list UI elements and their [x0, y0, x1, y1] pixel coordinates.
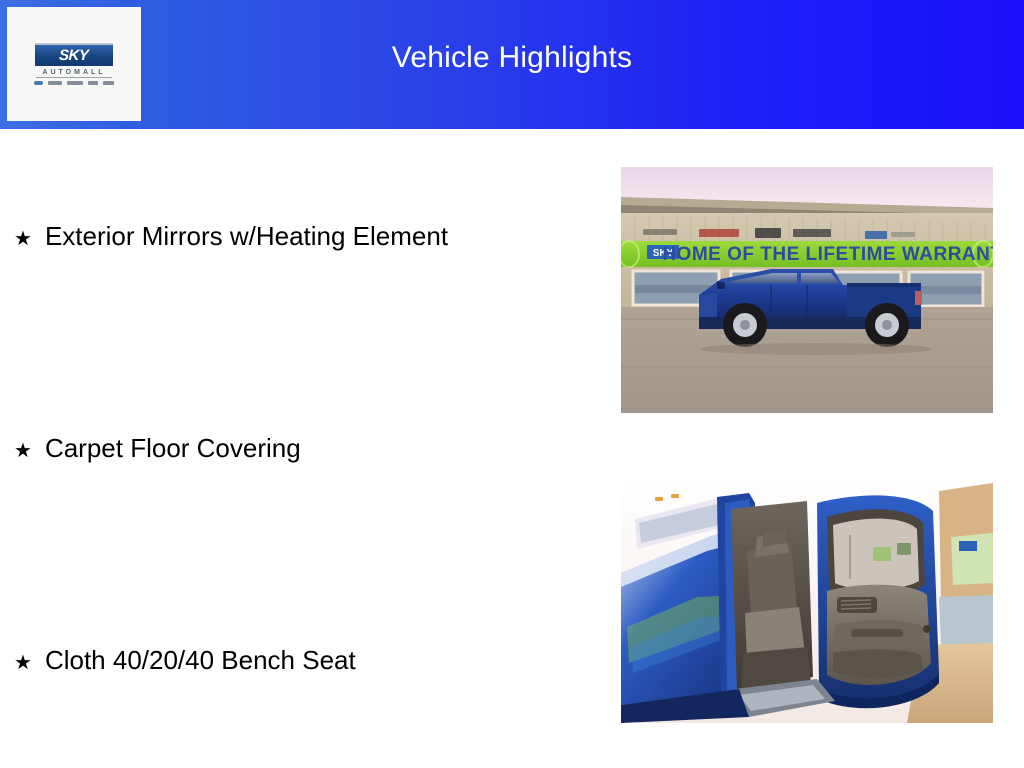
star-bullet-icon: ★ — [14, 653, 32, 673]
list-item: ★ Carpet Floor Covering — [14, 435, 301, 461]
chrysler-brand-icon — [34, 81, 43, 85]
highlights-list: ★ Exterior Mirrors w/Heating Element ★ C… — [0, 129, 600, 768]
exterior-photo: SKY HOME OF THE LIFETIME WARRANTY — [621, 167, 993, 413]
exterior-photo-image: SKY HOME OF THE LIFETIME WARRANTY — [621, 167, 993, 413]
fiat-brand-icon — [103, 81, 114, 85]
logo-inner: SKY AUTOMALL — [28, 43, 120, 85]
star-bullet-icon: ★ — [14, 441, 32, 461]
brand-logos-row — [34, 81, 114, 85]
interior-photo-image — [621, 477, 993, 723]
ram-brand-icon — [88, 81, 98, 85]
list-item: ★ Exterior Mirrors w/Heating Element — [14, 223, 448, 249]
highlight-label: Carpet Floor Covering — [45, 435, 301, 461]
sky-logo-text: SKY — [59, 47, 89, 64]
sky-logo-badge: SKY — [35, 43, 113, 66]
highlight-label: Cloth 40/20/40 Bench Seat — [45, 647, 356, 673]
jeep-brand-icon — [67, 81, 83, 85]
dodge-brand-icon — [48, 81, 62, 85]
star-bullet-icon: ★ — [14, 229, 32, 249]
interior-photo — [621, 477, 993, 723]
automall-label: AUTOMALL — [36, 69, 112, 78]
banner-text: HOME OF THE LIFETIME WARRANTY — [662, 244, 993, 265]
page-title: Vehicle Highlights — [0, 0, 1024, 129]
highlight-label: Exterior Mirrors w/Heating Element — [45, 223, 448, 249]
dealer-logo-card[interactable]: SKY AUTOMALL — [7, 7, 141, 121]
list-item: ★ Cloth 40/20/40 Bench Seat — [14, 647, 356, 673]
slide-header: Vehicle Highlights — [0, 0, 1024, 129]
